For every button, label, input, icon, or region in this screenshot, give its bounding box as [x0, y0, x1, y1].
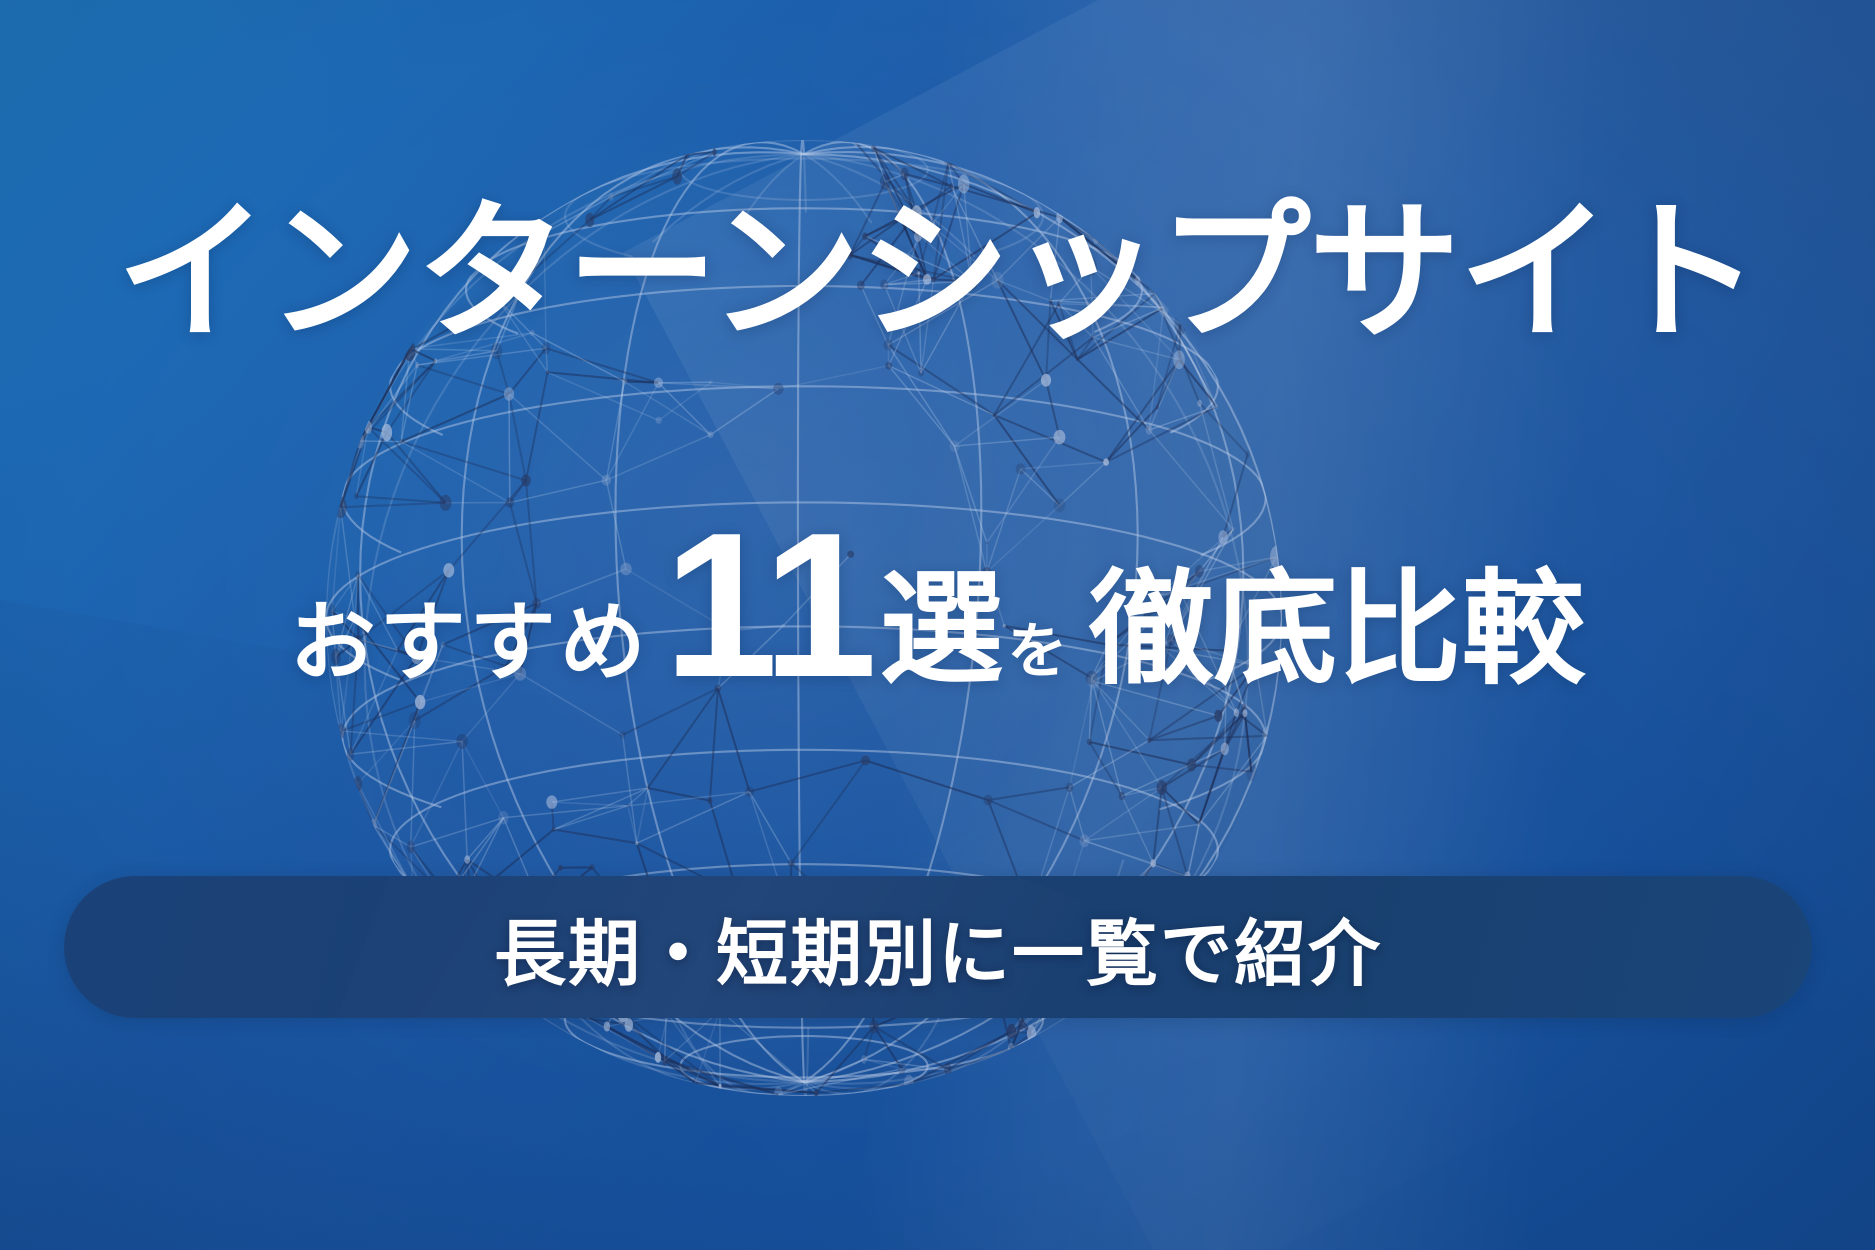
banner-subtitle: おすすめ 11 選 を 徹底比較	[0, 498, 1875, 694]
banner-content: インターンシップサイト おすすめ 11 選 を 徹底比較 長期・短期別に一覧で紹…	[0, 0, 1875, 1250]
banner-title: インターンシップサイト	[0, 196, 1875, 351]
pill-label: 長期・短期別に一覧で紹介	[64, 876, 1812, 1018]
subtitle-particle: を	[1003, 622, 1073, 694]
internship-site-banner: インターンシップサイト おすすめ 11 選 を 徹底比較 長期・短期別に一覧で紹…	[0, 0, 1875, 1250]
subtitle-count-number: 11	[664, 517, 874, 694]
subtitle-prefix: おすすめ	[290, 600, 650, 694]
subtitle-suffix: 徹底比較	[1089, 568, 1585, 694]
subtitle-pill-banner: 長期・短期別に一覧で紹介	[64, 876, 1812, 1018]
subtitle-counter-word: 選	[879, 568, 1003, 694]
